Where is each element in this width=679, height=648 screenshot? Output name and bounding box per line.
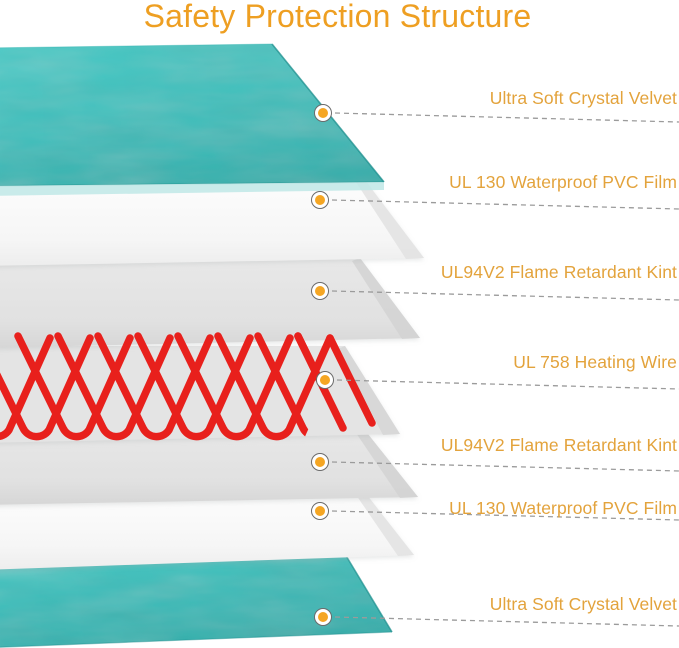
layer-body-crystal-velvet-bottom [0, 554, 392, 648]
layer-label-crystal-velvet: Ultra Soft Crystal Velvet [490, 88, 677, 109]
leader-line [335, 113, 679, 122]
layer-label-pvc-film: UL 130 Waterproof PVC Film [449, 498, 677, 519]
layer-marker-dot[interactable] [311, 191, 329, 209]
layer-marker-dot[interactable] [311, 282, 329, 300]
safety-structure-diagram: Safety Protection Structure Ultra Soft C… [0, 0, 679, 648]
leader-line [337, 380, 679, 389]
layer-label-flame-retardant-knit: UL94V2 Flame Retardant Kint [441, 262, 677, 283]
layer-label-flame-retardant-knit: UL94V2 Flame Retardant Kint [441, 435, 677, 456]
page-title: Safety Protection Structure [0, 0, 679, 35]
layer-label-crystal-velvet: Ultra Soft Crystal Velvet [490, 594, 677, 615]
layer-label-heating-wire: UL 758 Heating Wire [513, 352, 677, 373]
layer-label-pvc-film: UL 130 Waterproof PVC Film [449, 172, 677, 193]
layer-marker-dot[interactable] [311, 453, 329, 471]
layer-marker-dot[interactable] [316, 371, 334, 389]
layer-marker-dot[interactable] [314, 608, 332, 626]
layer-marker-dot[interactable] [311, 502, 329, 520]
layer-marker-dot[interactable] [314, 104, 332, 122]
